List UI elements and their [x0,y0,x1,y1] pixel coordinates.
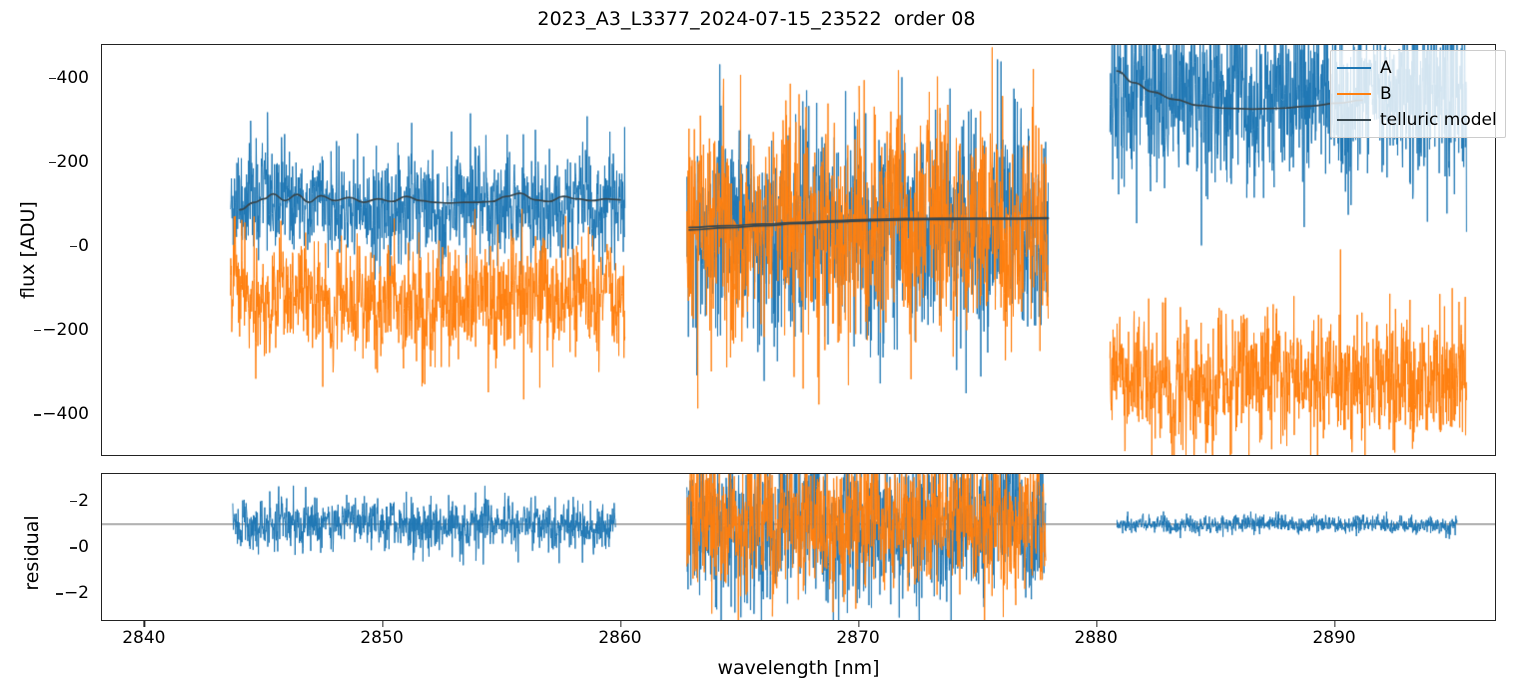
x-tick-mark [858,620,860,627]
y-tick-mark [49,78,56,80]
x-tick-mark [144,620,146,627]
x-tick-mark [620,620,622,627]
x-axis-label: wavelength [nm] [101,657,1496,679]
y-tick-mark [34,330,41,332]
y-tick-mark [34,414,41,416]
legend-item-a: A [1337,57,1497,79]
x-tick-label: 2840 [122,628,165,648]
legend-item-b: B [1337,83,1497,105]
flux-plot-canvas [102,45,1495,455]
x-tick-label: 2870 [836,628,879,648]
residual-ytick-labels: 20−2 [3,473,89,621]
x-tick-label: 2880 [1074,628,1117,648]
y-tick-label: 2 [78,491,89,511]
legend-line-icon [1337,67,1371,69]
y-tick-mark [49,162,56,164]
legend-label: A [1380,60,1392,77]
y-tick-label: −400 [42,404,89,424]
y-tick-label: 0 [78,537,89,557]
chart-title: 2023_A3_L3377_2024-07-15_23522 order 08 [0,8,1513,30]
y-tick-mark [70,547,77,549]
x-tick-labels: 284028502860287028802890 [0,628,1513,652]
x-tick-label: 2860 [598,628,641,648]
x-tick-label: 2850 [360,628,403,648]
y-tick-label: 200 [57,152,89,172]
x-tick-mark [1096,620,1098,627]
legend-item-telluric-model: telluric model [1337,109,1497,131]
legend-label: telluric model [1380,112,1497,129]
flux-ytick-labels: 4002000−200−400 [3,44,89,456]
y-tick-mark [56,593,63,595]
y-tick-label: −200 [42,320,89,340]
y-tick-label: −2 [64,583,89,603]
residual-panel [101,473,1496,621]
legend-line-icon [1337,119,1371,121]
residual-axis-label: residual [21,493,43,613]
x-tick-mark [1334,620,1336,627]
x-tick-label: 2890 [1312,628,1355,648]
y-tick-label: 400 [57,68,89,88]
y-tick-label: 0 [78,236,89,256]
figure: 2023_A3_L3377_2024-07-15_23522 order 08 … [0,0,1513,696]
x-tick-mark [382,620,384,627]
legend: ABtelluric model [1330,50,1506,138]
legend-label: B [1380,86,1392,103]
legend-line-icon [1337,93,1371,95]
flux-axis-label: flux [ADU] [17,170,39,330]
y-tick-mark [70,501,77,503]
residual-plot-canvas [102,474,1495,620]
flux-panel [101,44,1496,456]
y-tick-mark [70,246,77,248]
